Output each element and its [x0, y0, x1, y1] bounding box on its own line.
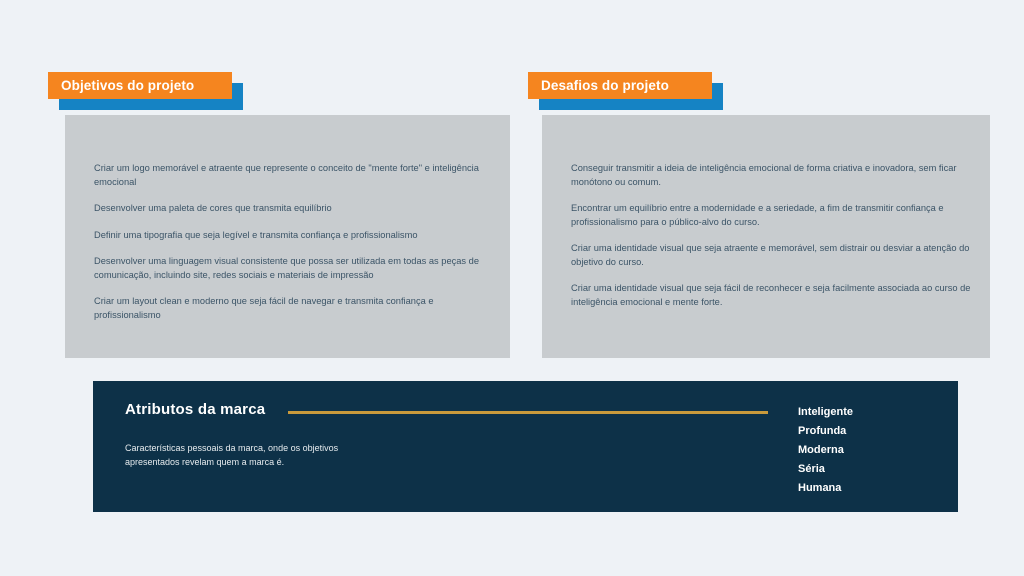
list-item: Profunda — [798, 422, 853, 441]
objectives-badge-label: Objetivos do projeto — [61, 79, 194, 93]
list-item: Definir uma tipografia que seja legível … — [94, 229, 484, 242]
brand-attributes-panel: Atributos da marca Características pesso… — [93, 381, 958, 512]
brand-attribute-list: Inteligente Profunda Moderna Séria Human… — [798, 403, 853, 498]
objectives-list: Criar um logo memorável e atraente que r… — [94, 153, 484, 322]
list-item: Criar um layout clean e moderno que seja… — [94, 295, 484, 322]
slide-canvas: Objetivos do projeto Criar um logo memor… — [0, 0, 1024, 576]
challenges-badge: Desafios do projeto — [528, 72, 712, 99]
list-item: Criar uma identidade visual que seja fác… — [571, 282, 971, 309]
list-item: Moderna — [798, 441, 853, 460]
brand-panel-title: Atributos da marca — [125, 401, 265, 418]
list-item: Desenvolver uma paleta de cores que tran… — [94, 202, 484, 215]
list-item: Criar um logo memorável e atraente que r… — [94, 162, 484, 189]
challenges-badge-plate: Desafios do projeto — [528, 72, 712, 99]
challenges-badge-label: Desafios do projeto — [541, 79, 669, 93]
challenges-list: Conseguir transmitir a ideia de inteligê… — [571, 153, 971, 309]
objectives-badge: Objetivos do projeto — [48, 72, 232, 99]
list-item: Desenvolver uma linguagem visual consist… — [94, 255, 484, 282]
list-item: Séria — [798, 460, 853, 479]
list-item: Criar uma identidade visual que seja atr… — [571, 242, 971, 269]
list-item: Conseguir transmitir a ideia de inteligê… — [571, 162, 971, 189]
list-item: Humana — [798, 479, 853, 498]
objectives-badge-plate: Objetivos do projeto — [48, 72, 232, 99]
brand-title-divider — [288, 411, 768, 414]
brand-description: Características pessoais da marca, onde … — [125, 442, 395, 469]
list-item: Encontrar um equilíbrio entre a modernid… — [571, 202, 971, 229]
list-item: Inteligente — [798, 403, 853, 422]
